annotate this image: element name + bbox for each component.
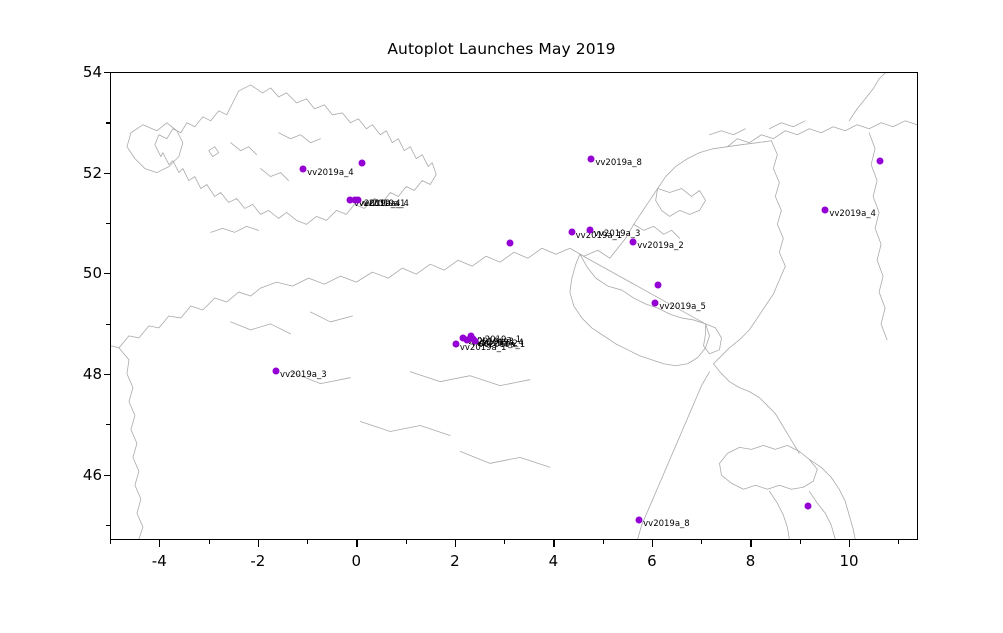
x-tick-minor <box>504 540 505 544</box>
x-tick-major <box>553 540 554 547</box>
data-point[interactable] <box>568 228 575 235</box>
figure-canvas: Autoplot Launches May 2019 <box>0 0 1003 633</box>
y-tick-major <box>104 173 111 174</box>
data-point-label: vv2019a_1 <box>479 340 526 350</box>
y-tick-minor <box>106 324 110 325</box>
y-tick-minor <box>106 424 110 425</box>
data-point[interactable] <box>586 227 593 234</box>
data-point[interactable] <box>652 300 659 307</box>
data-point-label: vv2019a_8 <box>643 519 690 529</box>
y-axis-ticks <box>110 72 111 540</box>
x-tick-major <box>750 540 751 547</box>
data-point[interactable] <box>359 159 366 166</box>
x-tick-major <box>652 540 653 547</box>
data-point[interactable] <box>654 282 661 289</box>
x-tick-label: 4 <box>549 552 559 570</box>
x-tick-label: -4 <box>152 552 167 570</box>
x-tick-label: 2 <box>450 552 460 570</box>
data-point-label: vv2019a_3 <box>280 370 327 380</box>
data-point-label: vv2019a_4 <box>307 168 354 178</box>
x-tick-major <box>849 540 850 547</box>
page-title: Autoplot Launches May 2019 <box>0 40 1003 58</box>
data-point[interactable] <box>588 155 595 162</box>
x-tick-label: 10 <box>839 552 858 570</box>
x-tick-minor <box>603 540 604 544</box>
x-tick-label: 6 <box>647 552 657 570</box>
y-tick-label: 48 <box>83 365 102 383</box>
data-point-label: vv2019a_8 <box>595 158 642 168</box>
x-tick-minor <box>307 540 308 544</box>
x-axis-ticks <box>110 540 918 548</box>
y-tick-major <box>104 475 111 476</box>
data-point[interactable] <box>876 158 883 165</box>
y-tick-label: 54 <box>83 63 102 81</box>
x-axis-tick-labels: -4-20246810 <box>110 552 918 578</box>
y-axis-tick-labels: 5452504846 <box>56 72 102 540</box>
x-tick-minor <box>800 540 801 544</box>
x-tick-label: 8 <box>746 552 756 570</box>
data-point[interactable] <box>805 502 812 509</box>
data-point[interactable] <box>507 240 514 247</box>
x-tick-minor <box>898 540 899 544</box>
x-tick-major <box>258 540 259 547</box>
data-point-label: vv2019a_2 <box>637 241 684 251</box>
y-tick-major <box>104 72 111 73</box>
scatter-points-layer: vv2019a_4vv2019a_4vv2019a_1vv2019a_4vv20… <box>111 73 917 539</box>
x-tick-minor <box>406 540 407 544</box>
y-tick-major <box>104 374 111 375</box>
data-point[interactable] <box>273 368 280 375</box>
y-tick-label: 46 <box>83 466 102 484</box>
y-tick-major <box>104 273 111 274</box>
x-tick-label: 0 <box>352 552 362 570</box>
x-tick-label: -2 <box>250 552 265 570</box>
plot-area[interactable]: vv2019a_4vv2019a_4vv2019a_1vv2019a_4vv20… <box>110 72 918 540</box>
data-point[interactable] <box>471 337 478 344</box>
data-point[interactable] <box>300 165 307 172</box>
x-tick-minor <box>110 540 111 544</box>
data-point[interactable] <box>822 206 829 213</box>
data-point[interactable] <box>636 516 643 523</box>
y-tick-label: 52 <box>83 164 102 182</box>
data-point[interactable] <box>355 197 362 204</box>
y-tick-minor <box>106 122 110 123</box>
y-tick-minor <box>106 525 110 526</box>
x-tick-minor <box>701 540 702 544</box>
data-point[interactable] <box>452 340 459 347</box>
y-tick-minor <box>106 223 110 224</box>
y-tick-label: 50 <box>83 264 102 282</box>
x-tick-major <box>159 540 160 547</box>
x-tick-major <box>455 540 456 547</box>
data-point-label: vv2019a_4 <box>362 199 409 209</box>
data-point-label: vv2019a_5 <box>659 302 706 312</box>
x-tick-minor <box>209 540 210 544</box>
data-point[interactable] <box>630 238 637 245</box>
data-point-label: vv2019a_4 <box>829 209 876 219</box>
x-tick-major <box>356 540 357 547</box>
